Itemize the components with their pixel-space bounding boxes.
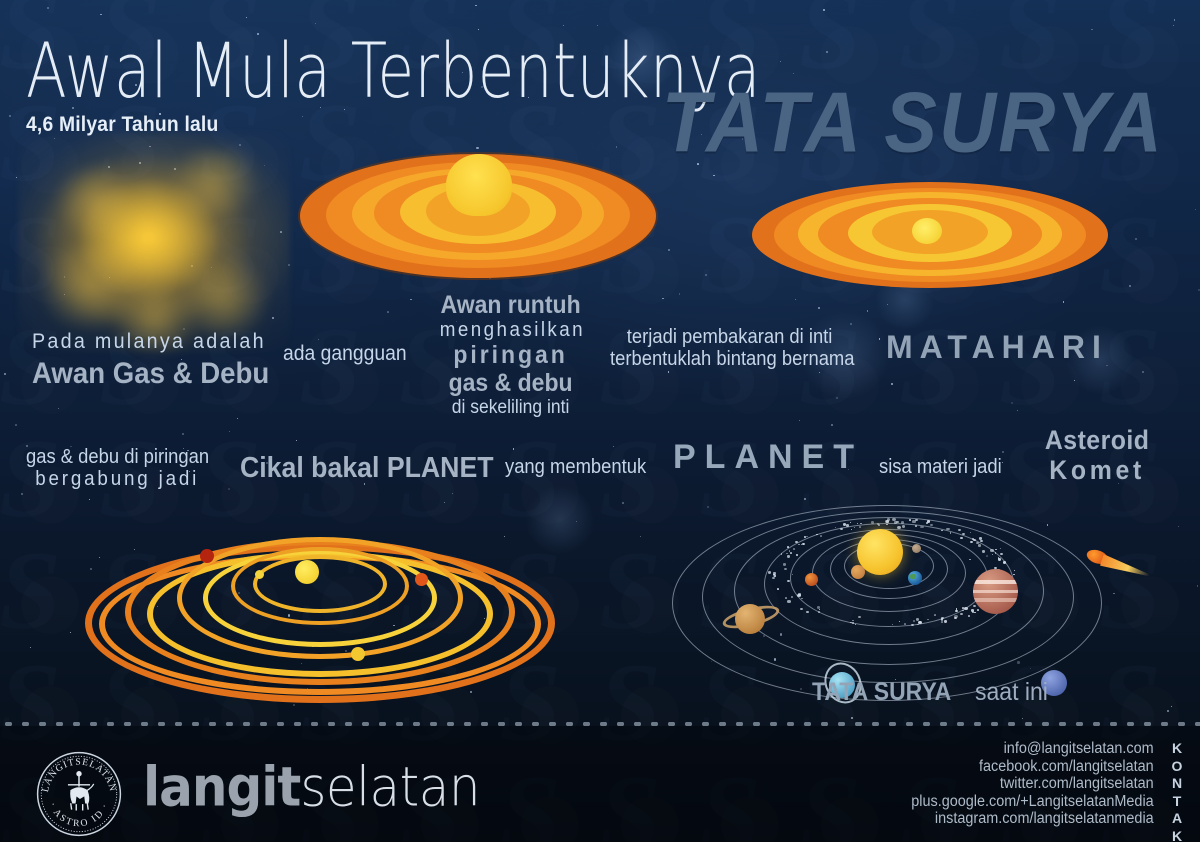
step-2-caption: ada gangguan xyxy=(283,342,417,366)
step-5-line-2: bergabung jadi xyxy=(26,468,208,490)
contact-facebook[interactable]: facebook.com/langitselatan xyxy=(912,758,1154,776)
label-cikal-bakal-planet: Cikal bakal PLANET xyxy=(240,452,494,484)
proto-solar-system-illustration xyxy=(85,525,555,715)
step-5-line-1: gas & debu di piringan xyxy=(26,446,204,468)
connector-sisa-materi-jadi: sisa materi jadi xyxy=(879,456,1002,478)
step-6-label: PLANET xyxy=(673,438,863,476)
step-5-caption: gas & debu di piringan bergabung jadi xyxy=(26,446,220,491)
label-matahari: MATAHARI xyxy=(886,330,1108,366)
step-4-label: MATAHARI xyxy=(886,330,1108,366)
svg-text:· ASTRO ID ·: · ASTRO ID · xyxy=(47,801,112,829)
kontak-vertical-label: KONTAK xyxy=(1166,740,1188,842)
step-3-caption: Awan runtuh menghasilkan piringan gas & … xyxy=(425,291,611,419)
label-komet: Komet xyxy=(1018,455,1176,485)
star-formation-disk-illustration xyxy=(752,172,1108,298)
planet-venus xyxy=(851,565,865,579)
step-7-label: Asteroid Komet xyxy=(1018,425,1190,485)
gas-dust-cloud-illustration xyxy=(18,132,290,352)
step-4-line-1: terjadi pembakaran di inti xyxy=(610,326,849,348)
step-3-line-5: di sekeliling inti xyxy=(425,397,596,418)
step-3-line-4: gas & debu xyxy=(425,369,596,397)
step-3-line-2: menghasilkan xyxy=(425,319,600,341)
brand-wordmark: langitselatan xyxy=(143,758,480,816)
solar-system-caption: TATA SURYA saat ini xyxy=(812,678,1054,707)
seal-bottom-text: · ASTRO ID · xyxy=(47,801,112,829)
infographic-poster: SSSSSSSSSSSSSSSSSSSSSSSSSSSSSSSSSSSSSSSS… xyxy=(0,0,1200,842)
contact-googleplus[interactable]: plus.google.com/+LangitselatanMedia xyxy=(912,793,1154,811)
langitselatan-seal-logo: LANGITSELATAN · ASTRO ID · xyxy=(33,748,125,840)
step-5-label: Cikal bakal PLANET xyxy=(240,452,516,484)
step-1-line-1: Pada mulanya adalah xyxy=(32,330,274,354)
label-planet: PLANET xyxy=(673,438,863,476)
planet-mars xyxy=(805,573,818,586)
contact-twitter[interactable]: twitter.com/langitselatan xyxy=(912,775,1154,793)
step-3-line-3: piringan xyxy=(425,341,596,369)
caption-tata-surya: TATA SURYA xyxy=(812,678,951,707)
contact-email[interactable]: info@langitselatan.com xyxy=(912,740,1154,758)
page-title: Awal Mula Terbentuknya xyxy=(26,26,761,115)
step-6-connector: yang membentuk xyxy=(505,456,658,478)
planet-mercury xyxy=(912,544,921,553)
step-7-connector: sisa materi jadi xyxy=(879,456,1012,478)
step-3-line-1: Awan runtuh xyxy=(425,291,596,319)
planet-saturn xyxy=(720,598,782,638)
step-4-caption: terjadi pembakaran di inti terbentuklah … xyxy=(610,326,870,371)
protoplanetary-disk-illustration xyxy=(300,140,656,290)
brand-wordmark-bold: langit xyxy=(143,756,300,819)
subtitle-timeframe: 4,6 Milyar Tahun lalu xyxy=(26,113,218,137)
caption-saat-ini: saat ini xyxy=(975,678,1048,707)
connector-yang-membentuk: yang membentuk xyxy=(505,456,646,478)
label-asteroid: Asteroid xyxy=(1018,425,1176,455)
step-2-line-1: ada gangguan xyxy=(283,342,407,366)
brand-wordmark-light: selatan xyxy=(300,756,480,819)
contact-instagram[interactable]: instagram.com/langitselatanmedia xyxy=(912,810,1154,828)
contact-list: info@langitselatan.com facebook.com/lang… xyxy=(893,740,1154,828)
step-1-caption: Pada mulanya adalah Awan Gas & Debu xyxy=(32,330,290,390)
step-1-line-2: Awan Gas & Debu xyxy=(32,357,269,391)
planet-jupiter xyxy=(973,569,1018,614)
protostar-core xyxy=(295,560,319,584)
step-4-line-2: terbentuklah bintang bernama xyxy=(610,348,849,370)
brand-title: TATA SURYA xyxy=(662,74,1164,171)
